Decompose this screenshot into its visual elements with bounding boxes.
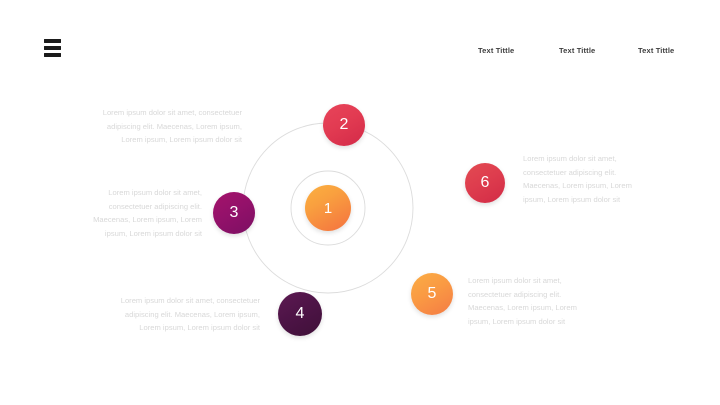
hamburger-bar bbox=[44, 46, 61, 50]
description-node-6: Lorem ipsum dolor sit amet, consectetuer… bbox=[523, 152, 653, 206]
process-node-1[interactable]: 1 bbox=[305, 185, 351, 231]
hamburger-menu-icon[interactable] bbox=[44, 39, 61, 57]
process-node-3[interactable]: 3 bbox=[213, 192, 255, 234]
description-node-2: Lorem ipsum dolor sit amet, consectetuer… bbox=[62, 106, 242, 147]
description-node-3: Lorem ipsum dolor sit amet, consectetuer… bbox=[60, 186, 202, 240]
process-node-4[interactable]: 4 bbox=[278, 292, 322, 336]
hamburger-bar bbox=[44, 53, 61, 57]
nav-item-3[interactable]: Text Tittle bbox=[638, 46, 674, 55]
hamburger-bar bbox=[44, 39, 61, 43]
top-navigation: Text Tittle Text Tittle Text Tittle bbox=[470, 46, 685, 60]
process-node-2[interactable]: 2 bbox=[323, 104, 365, 146]
nav-item-2[interactable]: Text Tittle bbox=[559, 46, 595, 55]
process-node-6[interactable]: 6 bbox=[465, 163, 505, 203]
slide-canvas: Text Tittle Text Tittle Text Tittle 1 2 … bbox=[0, 0, 720, 405]
description-node-4: Lorem ipsum dolor sit amet, consectetuer… bbox=[82, 294, 260, 335]
process-node-5[interactable]: 5 bbox=[411, 273, 453, 315]
description-node-5: Lorem ipsum dolor sit amet, consectetuer… bbox=[468, 274, 598, 328]
nav-item-1[interactable]: Text Tittle bbox=[478, 46, 514, 55]
